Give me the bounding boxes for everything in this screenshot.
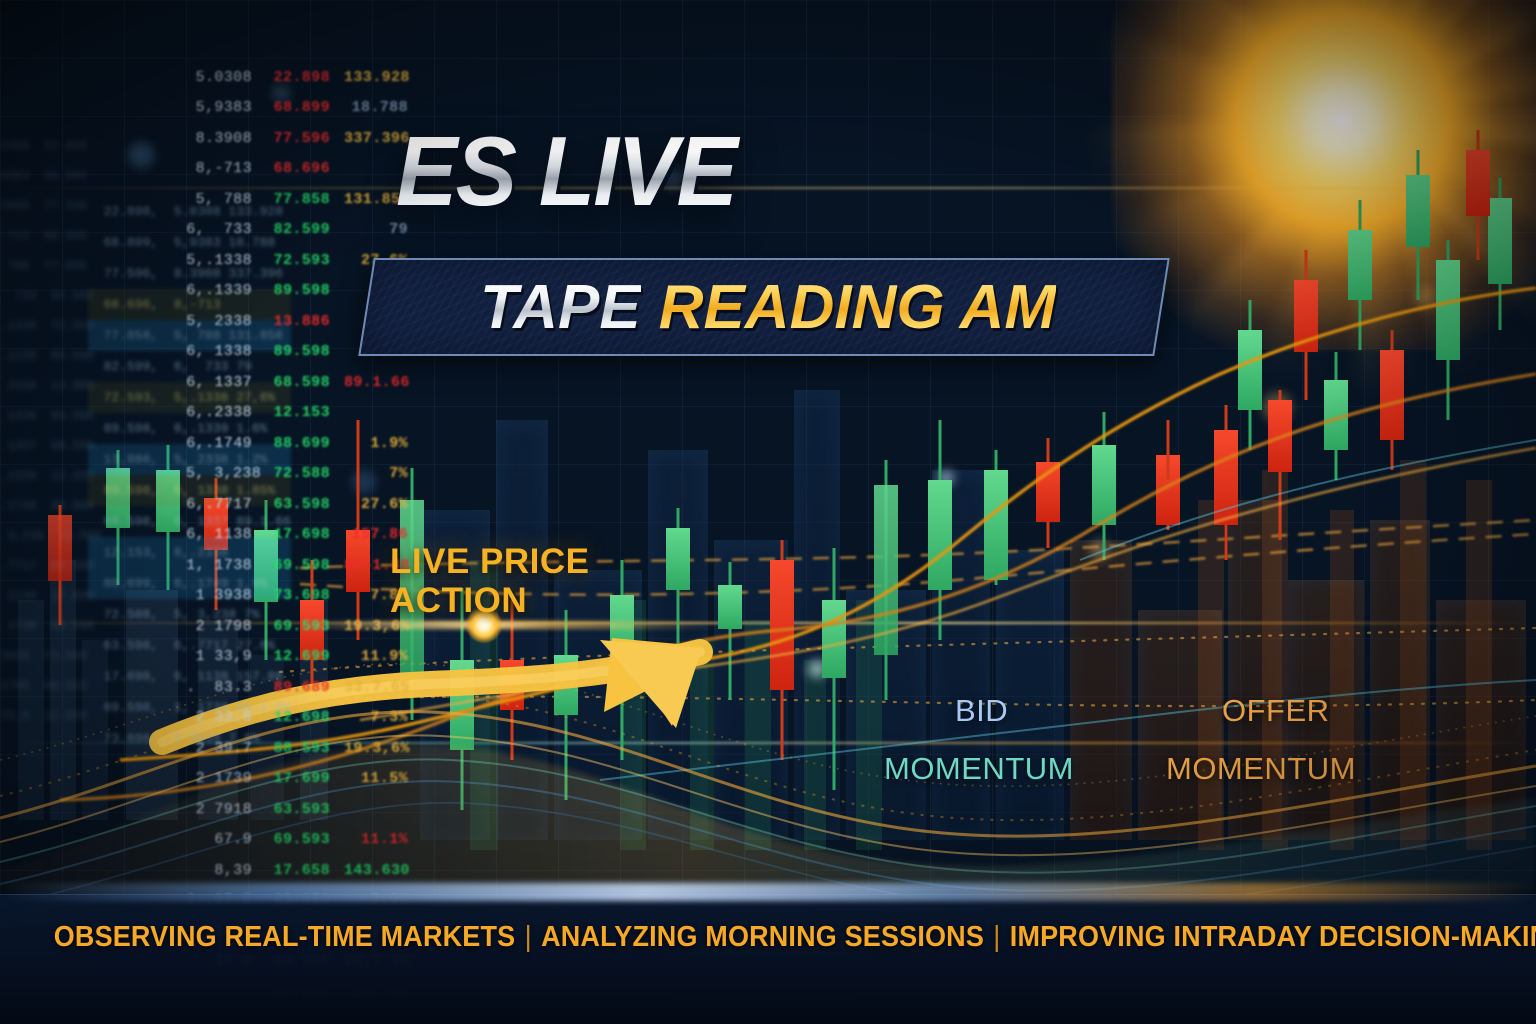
- dom-ladder-row: 2 173917.69911.5%: [186, 764, 408, 795]
- dom-ladder-row: 2 791863.593: [186, 794, 408, 825]
- dom-ladder-row: 6, 73382.59979: [186, 215, 408, 246]
- dom-ladder-main: 5.030822.898133.9285,938368.89918.7888.3…: [186, 62, 408, 1008]
- promo-graphic: 5.0308 22.8985,9383 68.8998.3908 77.5968…: [0, 0, 1536, 1024]
- label-live-price-action-line1: LIVE PRICE: [390, 542, 589, 581]
- dom-ladder-row: 1, 173869.59889.1.88: [186, 550, 408, 581]
- dom-ladder-far-row: 5,9383 68.899: [0, 170, 101, 200]
- label-live-price-action-line2: ACTION: [390, 581, 589, 620]
- dom-ladder-far-row: 8,-713 68.696: [0, 230, 101, 260]
- dom-ladder-row: 5,938368.89918.788: [186, 93, 408, 124]
- subtitle-word-tape: TAPE: [480, 277, 641, 339]
- bottom-banner: OBSERVING REAL-TIME MARKETS|ANALYZING MO…: [0, 894, 1536, 1024]
- banner-text: OBSERVING REAL-TIME MARKETS|ANALYZING MO…: [54, 921, 1482, 954]
- dom-ladder-row: . 83.389.68933.7.65: [186, 672, 408, 703]
- dom-ladder-row: 8,3917.658143.630: [186, 855, 408, 886]
- banner-sheen: [0, 883, 1536, 901]
- dom-ladder-far-row: 5, 3,238 72.588: [0, 530, 101, 560]
- dom-ladder-far-row: 6,.1339 89.598: [0, 350, 101, 380]
- banner-item-2: ANALYZING MORNING SESSIONS: [541, 921, 984, 953]
- dom-ladder-far-row: 6,.2338 12.153: [0, 470, 101, 500]
- label-offer-momentum: MOMENTUM: [1166, 752, 1356, 787]
- dom-ladder-row: 5, 3,23872.5887%: [186, 459, 408, 490]
- dom-ladder-row: 2 39.788.59319.3,6%: [186, 733, 408, 764]
- dom-ladder-far-row: 1 3938 73.698: [0, 650, 101, 680]
- dom-ladder-far-row: 5, 788 77.858: [0, 260, 101, 290]
- label-bid: BID: [955, 694, 1008, 729]
- title-block: ES LIVE: [396, 122, 1176, 220]
- dom-ladder-row: 5, 78877.858131.856: [186, 184, 408, 215]
- dom-ladder-far-row: 2 1798 69.593: [0, 680, 101, 710]
- dom-ladder-far-row: 8.3908 77.596: [0, 200, 101, 230]
- banner-item-1: OBSERVING REAL-TIME MARKETS: [54, 921, 516, 953]
- dom-ladder-far-row: 6, 1337 68.598: [0, 440, 101, 470]
- page-title: ES LIVE: [396, 122, 1129, 220]
- dom-ladder-row: 8.390877.596337.396: [186, 123, 408, 154]
- dom-ladder-far-left: 5.0308 22.8985,9383 68.8998.3908 77.5968…: [0, 140, 101, 740]
- label-bid-momentum: MOMENTUM: [884, 752, 1074, 787]
- dom-ladder-row: 6,.771763.59827.6%: [186, 489, 408, 520]
- dom-ladder-row: 8,-71368.696: [186, 154, 408, 185]
- dom-ladder-far-row: 6,.1749 88.699: [0, 500, 101, 530]
- dom-ladder-row: 5.030822.898133.928: [186, 62, 408, 93]
- subtitle-word-reading-am: READING AM: [659, 277, 1056, 339]
- label-offer: OFFER: [1222, 694, 1330, 729]
- dom-ladder-row: 6,.174988.6991.9%: [186, 428, 408, 459]
- banner-separator-1: |: [515, 921, 541, 953]
- dom-ladder-far-row: 1 33,9 12.699: [0, 710, 101, 740]
- dom-ladder-far-row: 1, 1738 69.598: [0, 620, 101, 650]
- dom-ladder-far-row: 6, 733 82.599: [0, 290, 101, 320]
- dom-ladder-row: 1 33,912.69911.9%: [186, 642, 408, 673]
- dom-ladder-row: 2 33.812.6987.3%: [186, 703, 408, 734]
- dom-ladder-far-row: 5.0308 22.898: [0, 140, 101, 170]
- dom-ladder-row: 1 393873.6987.8%: [186, 581, 408, 612]
- dom-ladder-row: 67.969.59311.1%: [186, 825, 408, 856]
- dom-ladder-row: 6,.233812.153: [186, 398, 408, 429]
- subtitle-block: TAPE READING AM: [380, 268, 1156, 348]
- dom-ladder-far-row: 5, 2338 13.886: [0, 380, 101, 410]
- banner-separator-2: |: [984, 921, 1010, 953]
- dom-ladder-row: 6, 133768.59889.1.66: [186, 367, 408, 398]
- label-live-price-action: LIVE PRICE ACTION: [390, 542, 589, 620]
- dom-ladder-far-row: 6, 1138 17.698: [0, 590, 101, 620]
- dom-ladder-far-row: 6,.7717 63.598: [0, 560, 101, 590]
- dom-ladder-far-row: 6, 1338 89.598: [0, 410, 101, 440]
- dom-ladder-far-row: 5,.1338 72.593: [0, 320, 101, 350]
- dom-ladder-row: 6, 113817.698157.86: [186, 520, 408, 551]
- banner-item-3: IMPROVING INTRADAY DECISION-MAKING: [1010, 921, 1536, 953]
- flare-streak-icon: [300, 621, 720, 629]
